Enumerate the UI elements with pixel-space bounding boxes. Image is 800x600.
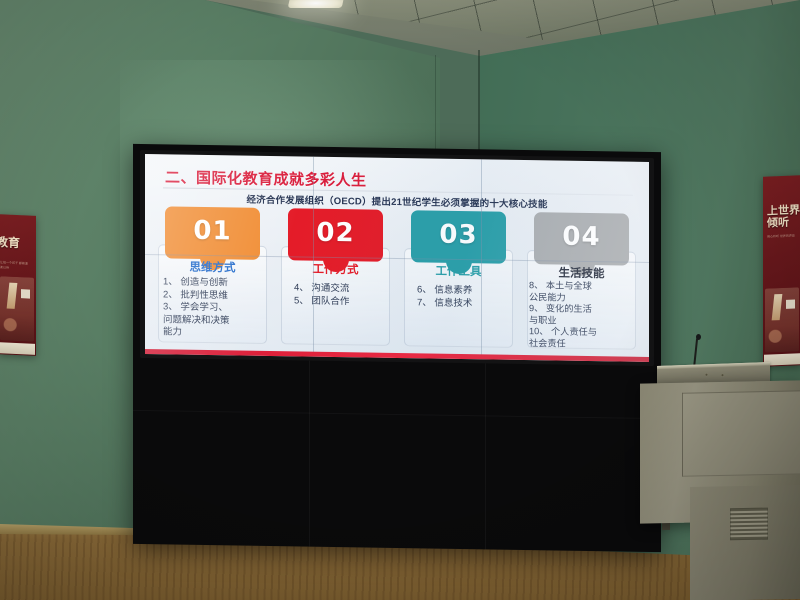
card-item: 1、 创造与创新 xyxy=(163,276,264,290)
card-item-list: 1、 创造与创新 2、 批判性思维 3、 学会学习、 问题解决和决策 能力 xyxy=(163,276,264,340)
card-item-list: 4、 沟通交流 5、 团队合作 xyxy=(294,282,387,309)
slide-footer-bar xyxy=(145,349,649,362)
cabinet-seam xyxy=(485,363,486,549)
card-item: 社会责任 xyxy=(529,338,633,351)
wall-poster-left: 的教育 让每一个孩子 都被温柔以待 xyxy=(0,214,36,356)
card-heading: 思维方式 xyxy=(155,258,270,276)
skill-card-03: 03 工作工具 6、 信息素养 7、 信息技术 xyxy=(401,210,516,350)
card-item: 3、 学会学习、 xyxy=(163,301,264,315)
card-heading: 生活技能 xyxy=(524,264,639,282)
lectern-base-cabinet xyxy=(690,485,800,600)
card-number: 04 xyxy=(534,221,629,252)
cabinet-seam xyxy=(309,361,310,547)
classroom-photo: 的教育 让每一个孩子 都被温柔以待 上世界 倾听 用心聆听 世界的声音 二、国际… xyxy=(0,0,800,600)
card-number-tab: 02 xyxy=(288,208,383,261)
screw-icon xyxy=(705,373,708,376)
card-heading: 工作工具 xyxy=(401,262,516,280)
poster-right-caption: 用心聆听 世界的声音 xyxy=(767,233,797,239)
card-item: 5、 团队合作 xyxy=(294,295,387,309)
skill-card-01: 01 思维方式 1、 创造与创新 2、 批判性思维 3、 学会学习、 问题解决和… xyxy=(155,206,270,346)
microphone-icon xyxy=(696,334,701,340)
poster-left-caption: 让每一个孩子 都被温柔以待 xyxy=(0,260,30,270)
card-item: 4、 沟通交流 xyxy=(294,282,387,296)
wall-poster-right: 上世界 倾听 用心聆听 世界的声音 xyxy=(763,175,800,366)
poster-left-title: 的教育 xyxy=(0,236,20,250)
screw-icon xyxy=(721,374,724,377)
card-number-tab: 04 xyxy=(534,212,629,265)
display-bezel: 二、国际化教育成就多彩人生 经济合作发展组织（OECD）提出21世纪学生必须掌握… xyxy=(140,150,654,366)
card-heading: 工作方式 xyxy=(278,260,393,278)
skill-card-02: 02 工作方式 4、 沟通交流 5、 团队合作 xyxy=(278,208,393,348)
poster-left-illustration xyxy=(0,276,34,342)
card-item: 7、 信息技术 xyxy=(417,297,510,311)
card-number: 02 xyxy=(288,217,383,248)
ceiling-light-fixture xyxy=(288,0,345,8)
card-number-tab: 03 xyxy=(411,210,506,263)
poster-right-title: 上世界 倾听 xyxy=(767,205,800,229)
card-item: 能力 xyxy=(163,326,264,340)
card-item-list: 6、 信息素养 7、 信息技术 xyxy=(417,284,510,311)
card-number-tab: 01 xyxy=(165,206,260,259)
poster-left-footer-band xyxy=(0,342,35,355)
card-number: 01 xyxy=(165,215,260,246)
vent-grille-icon xyxy=(730,508,768,541)
skill-card-04: 04 生活技能 8、 本土与全球 公民能力 9、 变化的生活 与职业 10、 个… xyxy=(524,212,639,352)
card-item-list: 8、 本土与全球 公民能力 9、 变化的生活 与职业 10、 个人责任与 社会责… xyxy=(529,280,633,351)
poster-right-illustration xyxy=(765,287,799,352)
cabinet-panel-line xyxy=(133,410,661,419)
lectern-front-panel xyxy=(682,390,800,477)
display-screen[interactable]: 二、国际化教育成就多彩人生 经济合作发展组织（OECD）提出21世纪学生必须掌握… xyxy=(145,154,649,362)
video-wall-cabinet: 二、国际化教育成就多彩人生 经济合作发展组织（OECD）提出21世纪学生必须掌握… xyxy=(133,144,661,552)
card-number: 03 xyxy=(411,219,506,250)
skill-card-row: 01 思维方式 1、 创造与创新 2、 批判性思维 3、 学会学习、 问题解决和… xyxy=(155,206,639,352)
card-item: 6、 信息素养 xyxy=(417,284,510,298)
